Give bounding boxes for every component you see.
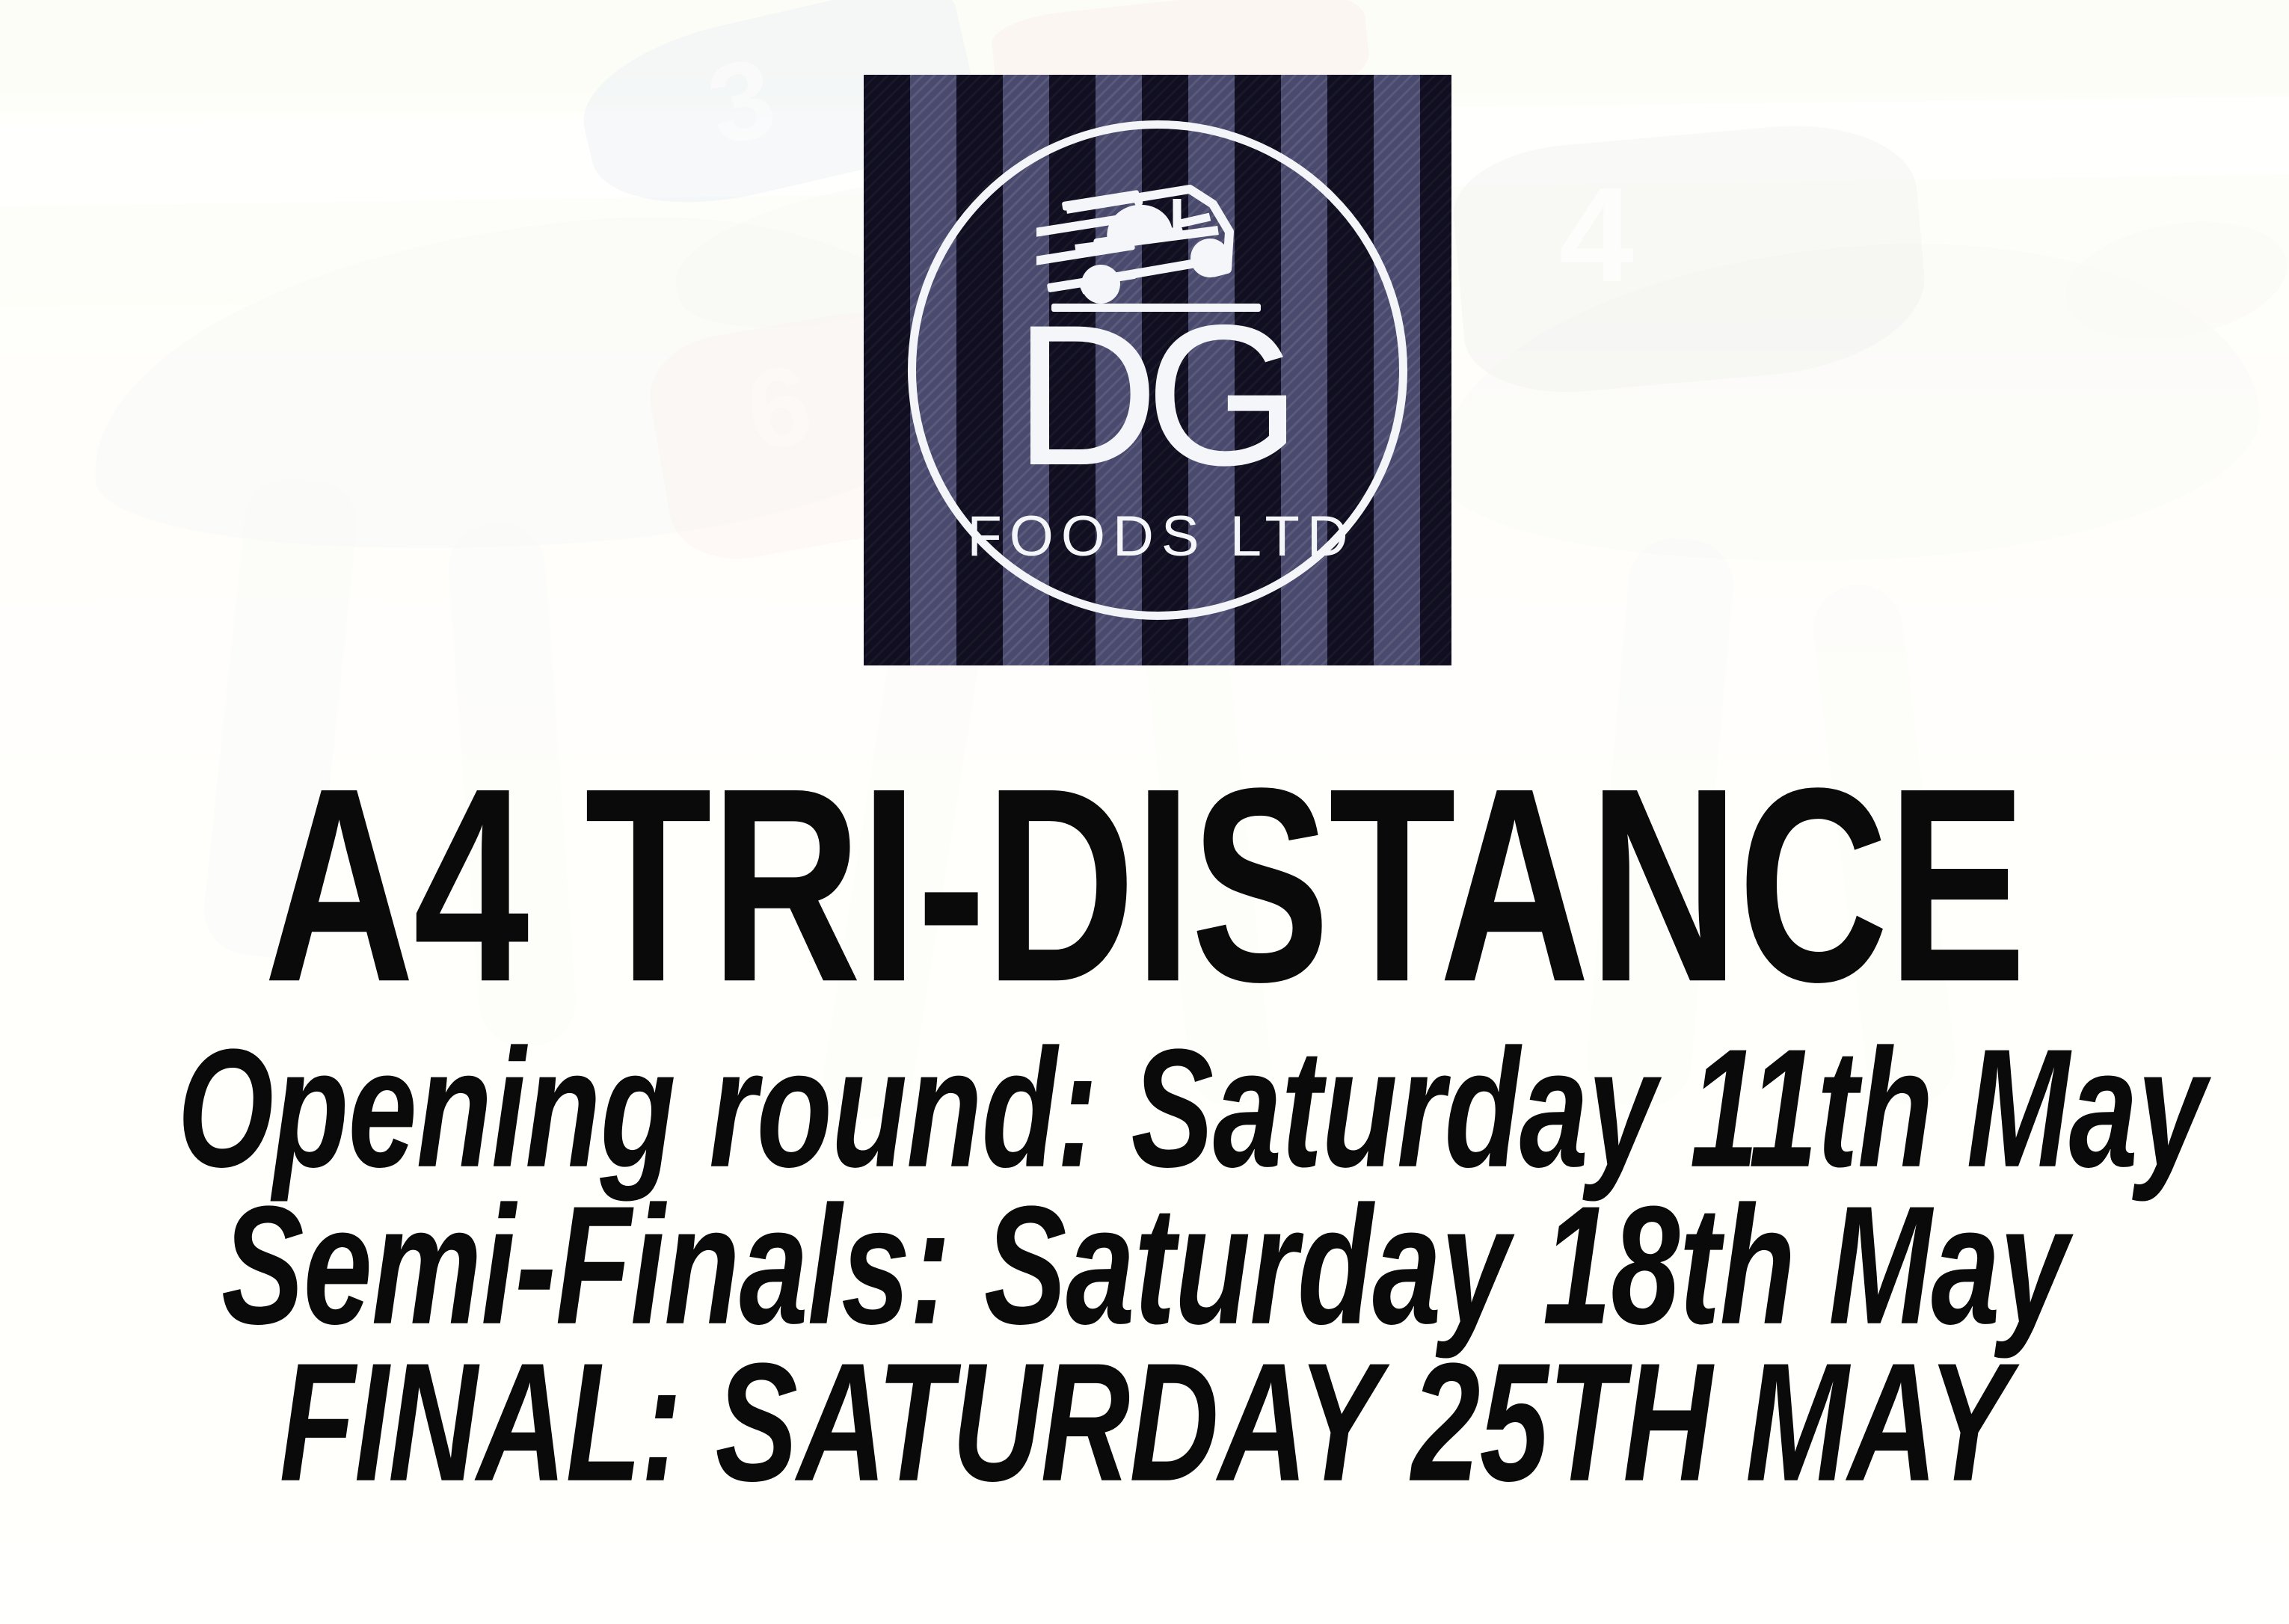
final-line: FINAL: SATURDAY 25TH MAY [177,1338,2112,1507]
logo-subtitle: FOODS LTD [864,508,1451,565]
logo-content: DG FOODS LTD [864,75,1451,665]
page-title: A4 TRI-DISTANCE [177,755,2112,1015]
semi-finals-line: Semi-Finals: Saturday 18th May [177,1181,2112,1350]
dg-foods-logo: DG FOODS LTD [864,75,1451,665]
opening-round-line: Opening round: Saturday 11th May [177,1024,2112,1193]
poster-text-block: A4 TRI-DISTANCE Opening round: Saturday … [0,755,2289,1485]
poster-root: 3 6 4 [0,0,2289,1624]
logo-initials: DG [864,295,1451,495]
